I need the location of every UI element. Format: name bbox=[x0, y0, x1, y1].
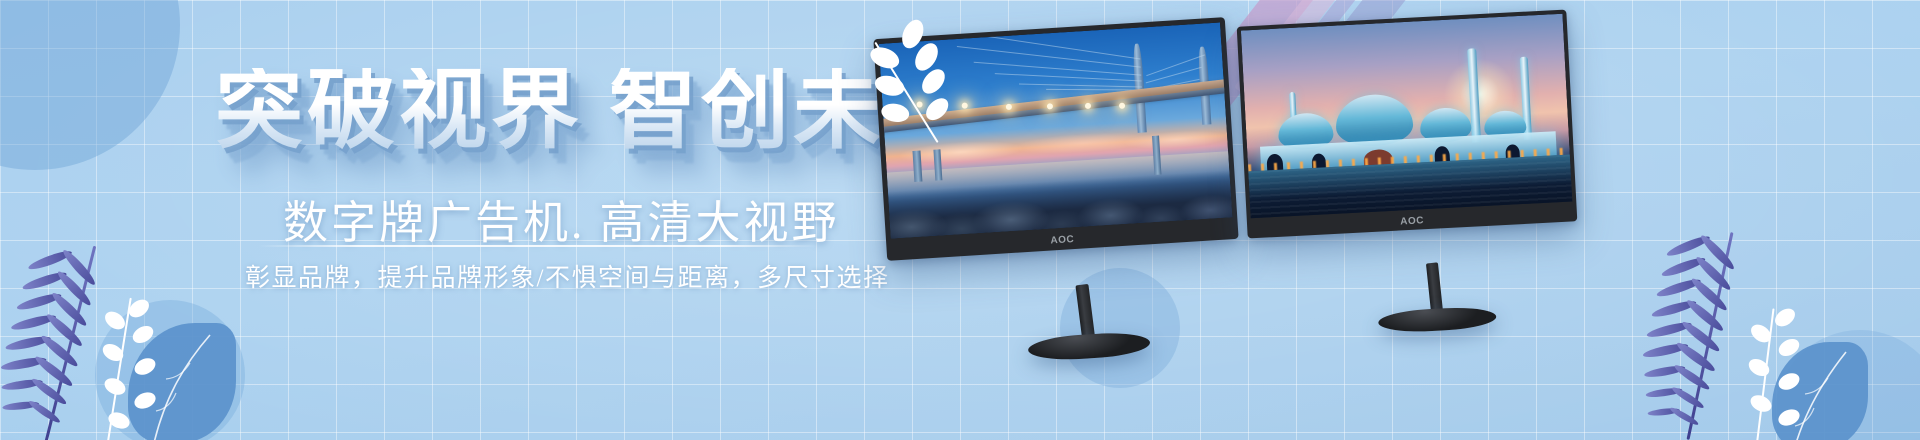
bridge-lamp bbox=[1119, 103, 1125, 109]
divider-rule bbox=[258, 245, 818, 247]
brand-logo: AOC bbox=[1400, 215, 1424, 227]
monitor-bezel: AOC bbox=[1237, 10, 1578, 239]
monitor-stand-base bbox=[1027, 331, 1150, 363]
monitor-mosque: AOC bbox=[1237, 10, 1578, 239]
bridge-cable bbox=[957, 46, 1141, 68]
tagline: 彰显品牌，提升品牌形象/不惧空间与距离，多尺寸选择 bbox=[245, 258, 889, 294]
monitor-stand-base bbox=[1378, 306, 1497, 334]
brand-logo: AOC bbox=[1050, 234, 1074, 246]
monitor-screen bbox=[1241, 14, 1572, 219]
subtitle: 数字牌广告机. 高清大视野 bbox=[283, 186, 840, 251]
promo-banner: 突破视界 智创未来 数字牌广告机. 高清大视野 彰显品牌，提升品牌形象/不惧空间… bbox=[0, 0, 1920, 440]
product-group: AOC bbox=[860, 0, 1920, 440]
bridge-cable bbox=[1019, 83, 1142, 87]
mosque-scene bbox=[1241, 14, 1572, 219]
